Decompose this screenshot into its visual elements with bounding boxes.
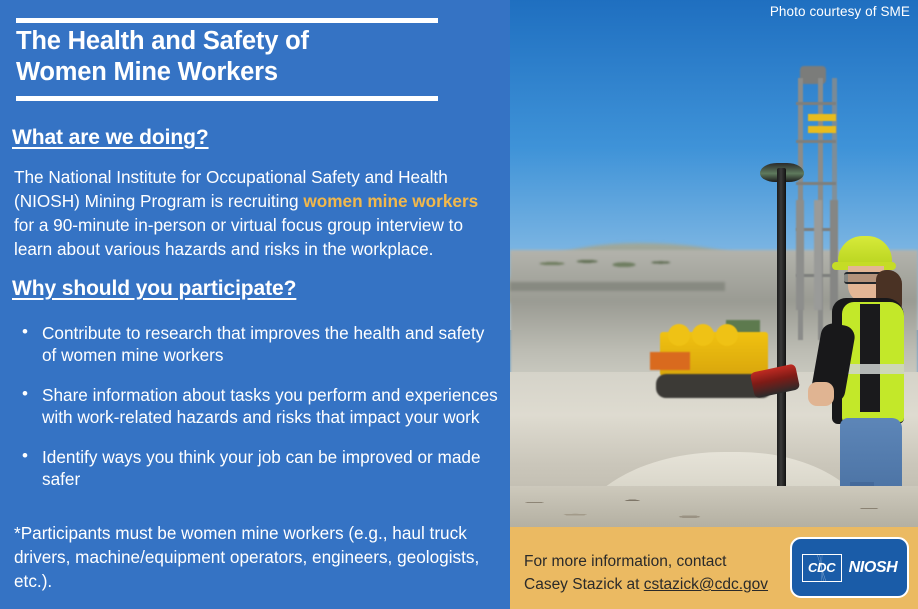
derrick-brace (796, 182, 836, 185)
contact-footer: For more information, contact Casey Staz… (510, 527, 918, 609)
worker-hand (808, 382, 834, 406)
paragraph-part-2: for a 90-minute in-person or virtual foc… (14, 215, 463, 259)
eligibility-footnote: *Participants must be women mine workers… (14, 521, 506, 593)
vest-opening (860, 304, 880, 412)
title-line-2: Women Mine Workers (16, 57, 486, 88)
woman-mine-worker-figure (810, 236, 918, 526)
page-title: The Health and Safety of Women Mine Work… (16, 26, 486, 88)
section-heading-what-are-we-doing: What are we doing? (12, 126, 209, 150)
rig-orange-panel (650, 352, 690, 370)
photo-hill-trees (536, 246, 696, 268)
contact-email-link[interactable]: cstazick@cdc.gov (644, 576, 768, 593)
photo-bench-ledge (510, 282, 725, 291)
derrick-yellow-band (808, 126, 836, 133)
derrick-brace (796, 102, 836, 105)
section-paragraph-what-are-we-doing: The National Institute for Occupational … (14, 165, 500, 261)
cdc-niosh-logo: CDC NIOSH (790, 537, 909, 598)
derrick-brace (796, 140, 836, 143)
contact-information: For more information, contact Casey Staz… (524, 550, 794, 596)
left-content-panel: The Health and Safety of Women Mine Work… (0, 0, 510, 609)
section-heading-why-participate: Why should you participate? (12, 277, 296, 301)
list-item: Share information about tasks you perfor… (14, 384, 500, 428)
survey-pole (777, 168, 786, 527)
list-item: Contribute to research that improves the… (14, 322, 500, 366)
mine-worker-photo: Photo courtesy of SME (510, 0, 918, 527)
list-item: Identify ways you think your job can be … (14, 446, 500, 490)
rig-drum (716, 324, 738, 346)
cdc-logo-text: CDC (808, 560, 835, 575)
accent-phrase-women-mine-workers: women mine workers (303, 191, 478, 211)
title-rule-bottom (16, 96, 438, 101)
photo-foreground-rubble (510, 486, 918, 527)
contact-line-1: For more information, contact (524, 553, 726, 570)
rig-drum (668, 324, 690, 346)
contact-line-2-prefix: Casey Stazick at (524, 576, 644, 593)
vest-reflective-stripe (842, 364, 904, 374)
photo-credit: Photo courtesy of SME (770, 4, 910, 19)
derrick-yellow-band (808, 114, 836, 121)
rig-drum (692, 324, 714, 346)
benefits-bullet-list: Contribute to research that improves the… (14, 322, 500, 508)
cdc-logo-icon: CDC (802, 554, 842, 582)
flyer-poster: The Health and Safety of Women Mine Work… (0, 0, 918, 609)
title-line-1: The Health and Safety of (16, 26, 486, 57)
title-rule-top (16, 18, 438, 23)
niosh-logo-text: NIOSH (849, 559, 898, 577)
